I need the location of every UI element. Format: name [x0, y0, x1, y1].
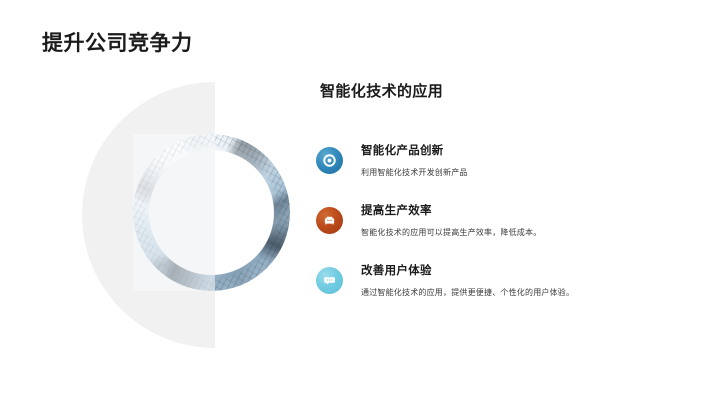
- speech-bubble-icon: [316, 267, 343, 294]
- feature-description: 通过智能化技术的应用，提供更便捷、个性化的用户体验。: [361, 286, 597, 299]
- target-lens-icon: [316, 147, 343, 174]
- feature-text: 改善用户体验 通过智能化技术的应用，提供更便捷、个性化的用户体验。: [361, 265, 688, 299]
- armchair-icon: [316, 207, 343, 234]
- decorative-graphic: [0, 0, 300, 404]
- list-item: 智能化产品创新 利用智能化技术开发创新产品: [316, 145, 688, 179]
- list-item: 提高生产效率 智能化技术的应用可以提高生产效率，降低成本。: [316, 205, 688, 239]
- skyscraper-photo-texture: [133, 134, 290, 291]
- feature-title: 智能化产品创新: [361, 145, 688, 159]
- content-heading: 智能化技术的应用: [316, 80, 688, 101]
- feature-text: 智能化产品创新 利用智能化技术开发创新产品: [361, 145, 688, 179]
- feature-description: 利用智能化技术开发创新产品: [361, 166, 597, 179]
- presentation-slide: 提升公司竞争力 智能化技术的应用 智能化产品创新: [0, 0, 720, 404]
- feature-title: 改善用户体验: [361, 265, 688, 279]
- feature-text: 提高生产效率 智能化技术的应用可以提高生产效率，降低成本。: [361, 205, 688, 239]
- list-item: 改善用户体验 通过智能化技术的应用，提供更便捷、个性化的用户体验。: [316, 265, 688, 299]
- feature-title: 提高生产效率: [361, 205, 688, 219]
- feature-description: 智能化技术的应用可以提高生产效率，降低成本。: [361, 226, 597, 239]
- feature-list: 智能化产品创新 利用智能化技术开发创新产品 提高生产效率 智能化技术的应用可以提…: [316, 145, 688, 299]
- skyscraper-photo-ring: [133, 134, 290, 291]
- content-column: 智能化技术的应用 智能化产品创新 利用智能化技术开发创新产品: [316, 80, 688, 299]
